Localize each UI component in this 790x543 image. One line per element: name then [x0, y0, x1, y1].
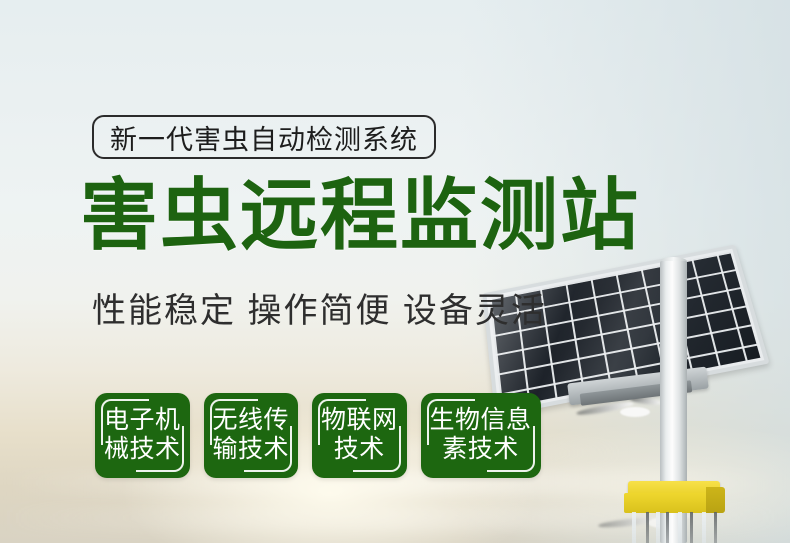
headline-badge: 新一代害虫自动检测系统: [92, 115, 436, 159]
feature-tag-line: 生物信息: [430, 406, 532, 435]
product-banner: 新一代害虫自动检测系统 害虫远程监测站 性能稳定 操作简便 设备灵活 电子机 械…: [0, 0, 790, 543]
feature-tag-line: 输技术: [213, 435, 290, 464]
feature-tag-line: 素技术: [430, 435, 532, 464]
feature-tag: 物联网 技术: [312, 393, 407, 478]
feature-tag-list: 电子机 械技术 无线传 输技术 物联网 技术 生物信息 素技术: [95, 393, 541, 478]
monitoring-station-illustration: [480, 235, 790, 543]
feature-tag-line: 电子机: [104, 406, 181, 435]
feature-tag: 生物信息 素技术: [421, 393, 541, 478]
feature-tag: 电子机 械技术: [95, 393, 190, 478]
page-title: 害虫远程监测站: [80, 176, 640, 254]
feature-tag-line: 械技术: [104, 435, 181, 464]
feature-tag-line: 技术: [321, 435, 398, 464]
headline-badge-label: 新一代害虫自动检测系统: [110, 118, 418, 157]
feature-tag: 无线传 输技术: [204, 393, 299, 478]
feature-tag-line: 物联网: [321, 406, 398, 435]
insect-trap-side-panel: [706, 487, 725, 513]
feature-tag-line: 无线传: [213, 406, 290, 435]
trap-glass-rods: [630, 512, 722, 543]
page-subtitle: 性能稳定 操作简便 设备灵活: [92, 283, 547, 332]
